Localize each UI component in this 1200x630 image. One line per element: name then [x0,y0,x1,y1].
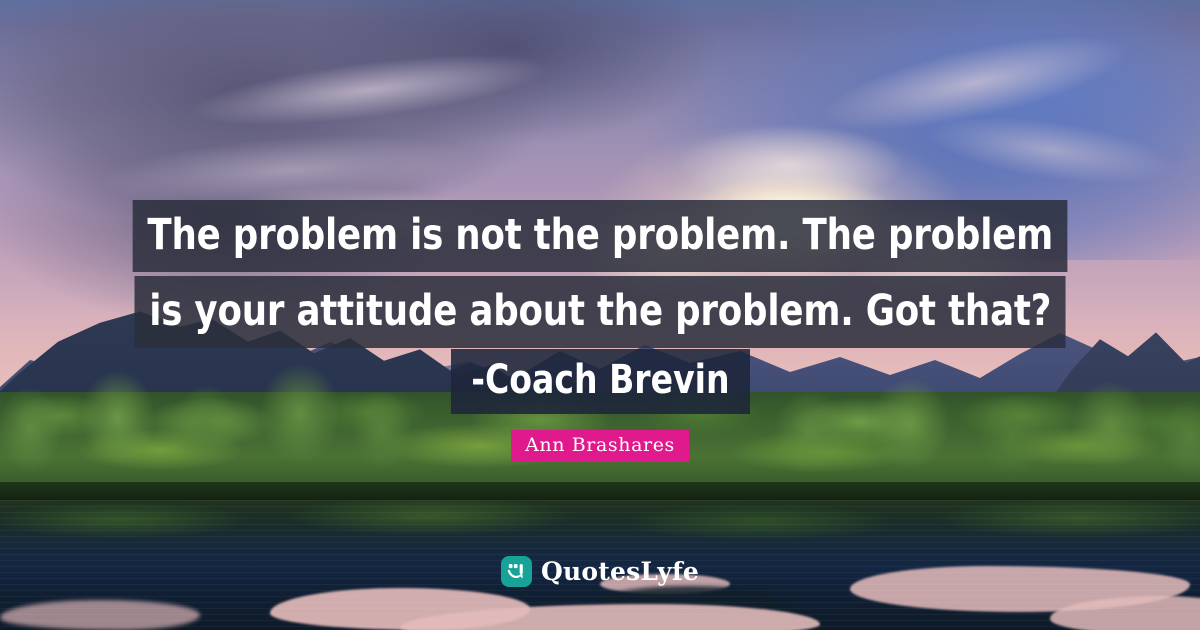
author-badge-wrap: Ann Brashares [0,430,1200,462]
quote-attribution: -Coach Brevin [451,349,750,414]
quote-line-1: The problem is not the problem. The prob… [132,200,1067,272]
quote-card: The problem is not the problem. The prob… [0,0,1200,630]
quote-smiley-icon [501,556,532,587]
brand-name: QuotesLyfe [541,559,699,584]
quote-line-2: is your attitude about the problem. Got … [134,276,1065,348]
quote-attribution-wrap: -Coach Brevin [0,349,1200,414]
quote-text-block: The problem is not the problem. The prob… [0,200,1200,348]
author-name-badge[interactable]: Ann Brashares [511,430,689,462]
brand-logo[interactable]: QuotesLyfe [0,556,1200,587]
